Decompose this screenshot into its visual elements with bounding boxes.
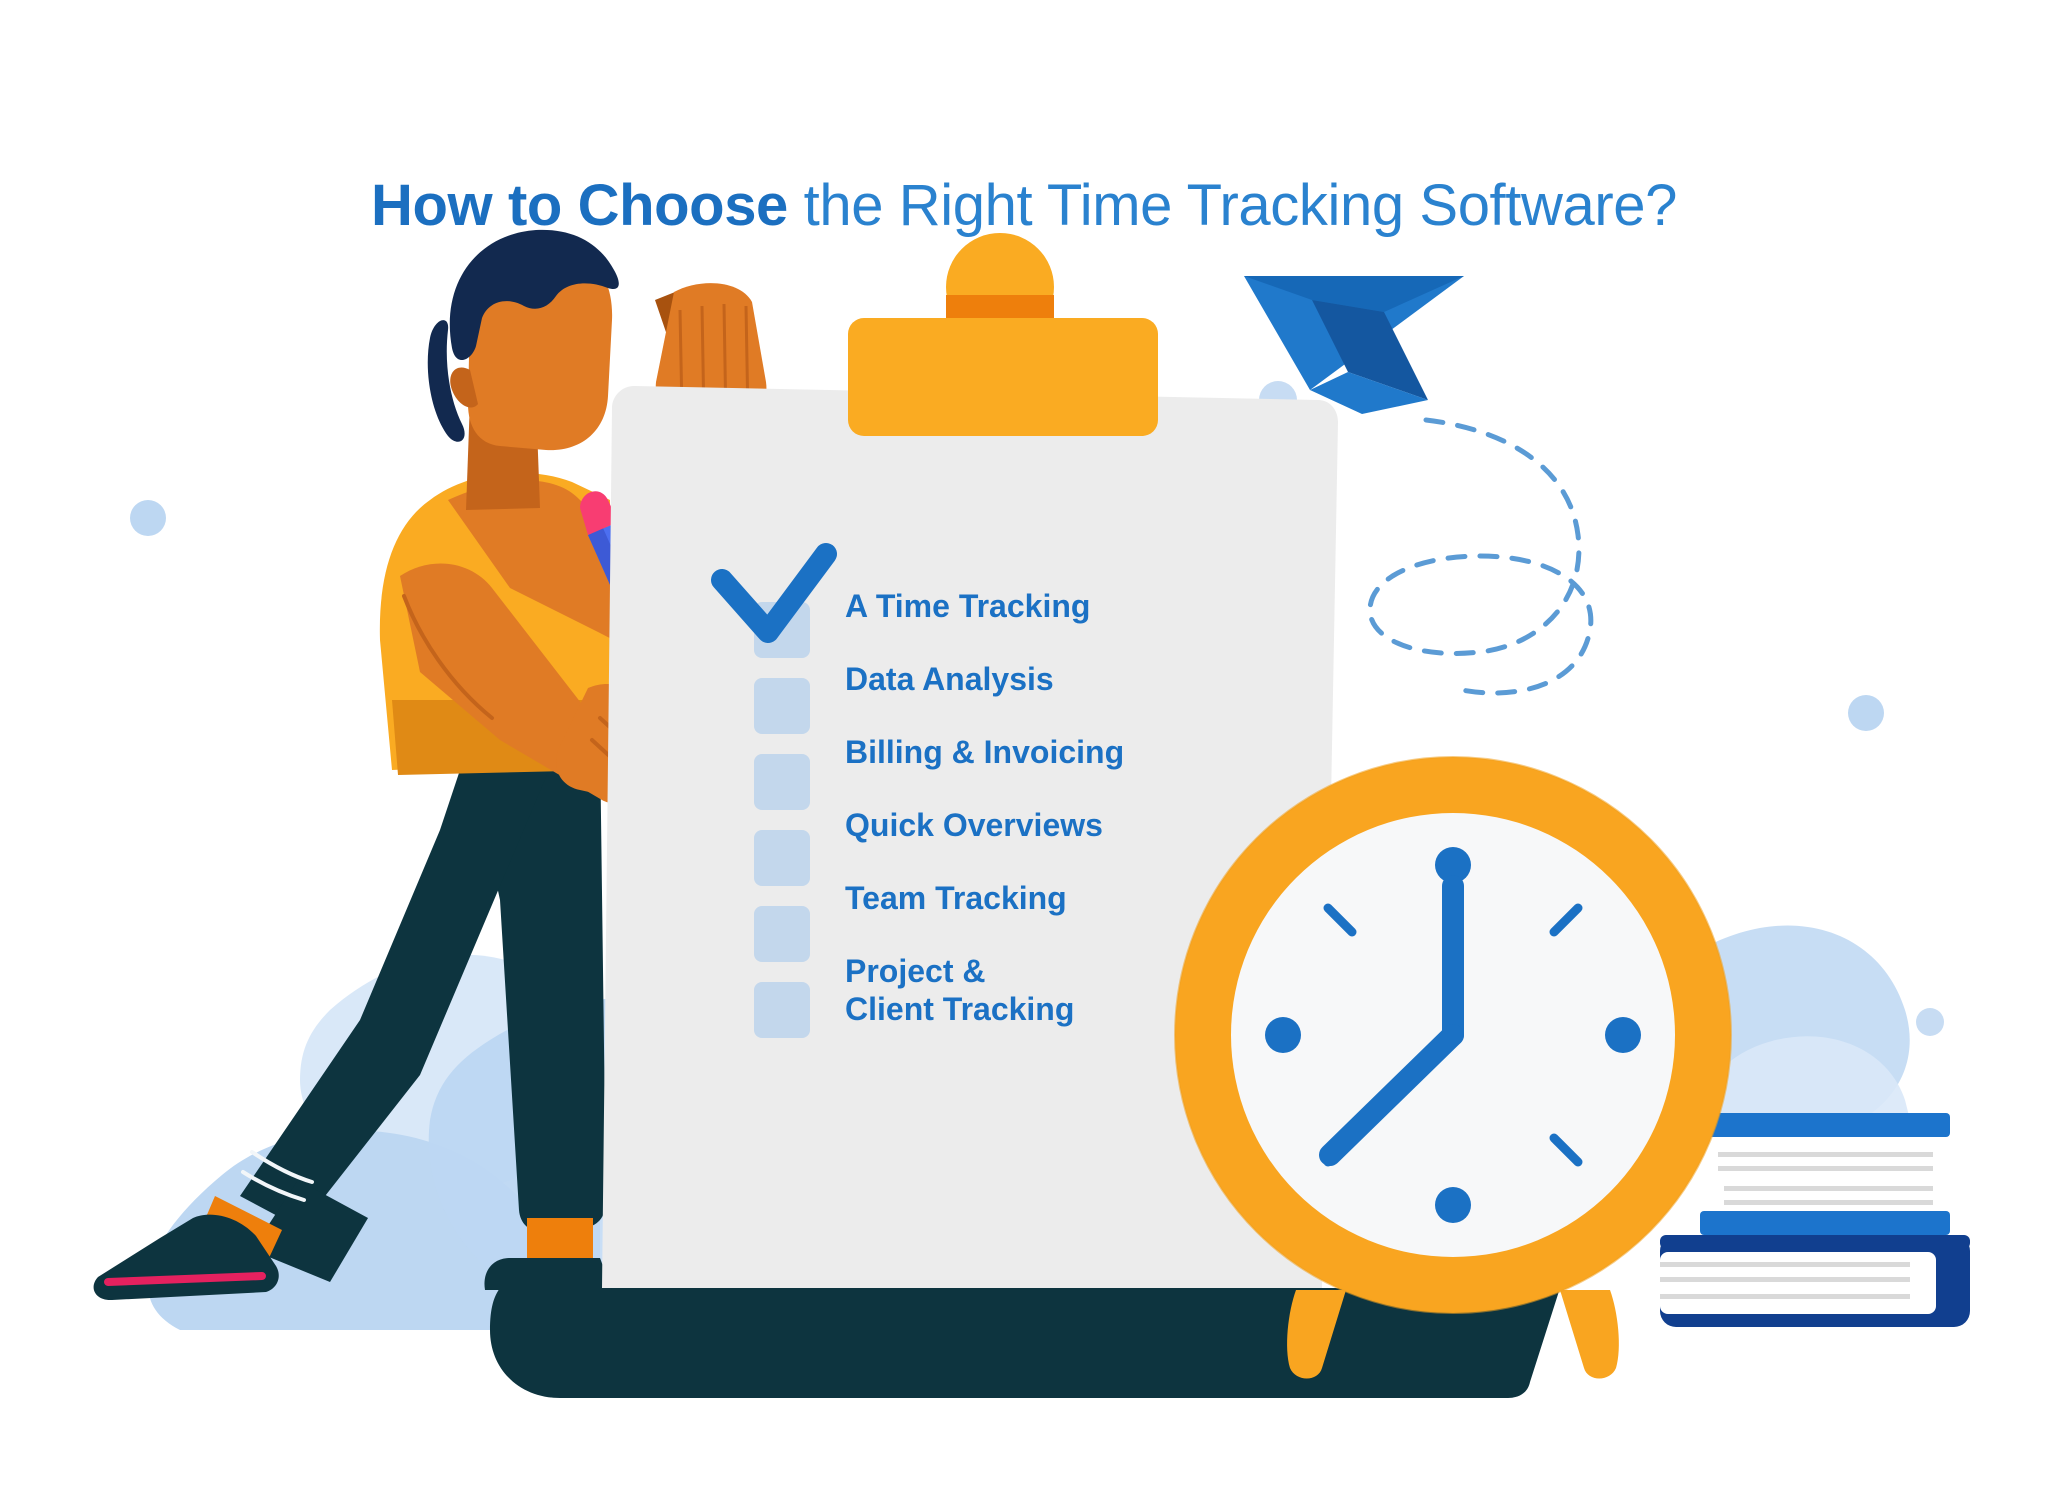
shoe-back — [484, 1258, 612, 1290]
illustration-canvas: How to Choose the Right Time Tracking So… — [0, 0, 2048, 1512]
checkbox-2 — [754, 678, 810, 734]
dot-right-lower — [1916, 1008, 1944, 1036]
clock-foot-right — [1560, 1290, 1619, 1379]
checkbox-3 — [754, 754, 810, 810]
clock-dot-6 — [1435, 1187, 1471, 1223]
checkbox-4 — [754, 830, 810, 886]
dot-left — [130, 500, 166, 536]
dot-right-upper — [1848, 695, 1884, 731]
clock-dot-9 — [1265, 1017, 1301, 1053]
scene-graphics — [0, 0, 2048, 1512]
clip-body — [848, 318, 1158, 436]
clock-dot-3 — [1605, 1017, 1641, 1053]
checkbox-6 — [754, 982, 810, 1038]
checkbox-5 — [754, 906, 810, 962]
paper-plane-trail — [1370, 420, 1591, 693]
